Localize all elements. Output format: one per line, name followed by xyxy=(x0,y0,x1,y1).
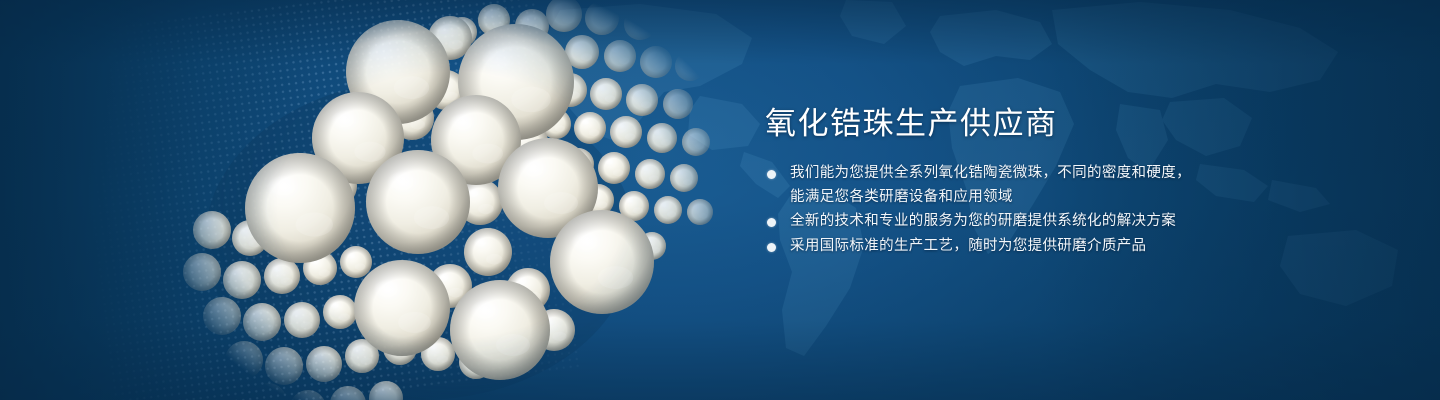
hero-banner: 氧化锆珠生产供应商 我们能为您提供全系列氧化锆陶瓷微珠，不同的密度和硬度， 能满… xyxy=(0,0,1440,400)
banner-headline: 氧化锆珠生产供应商 xyxy=(765,104,1233,144)
bullet-item-1: 我们能为您提供全系列氧化锆陶瓷微珠，不同的密度和硬度， 能满足您各类研磨设备和应… xyxy=(763,162,1233,209)
banner-bullet-list: 我们能为您提供全系列氧化锆陶瓷微珠，不同的密度和硬度， 能满足您各类研磨设备和应… xyxy=(763,162,1233,258)
bullet-dot-icon xyxy=(767,243,776,252)
zirconia-beads-photo xyxy=(150,0,730,400)
banner-copy: 氧化锆珠生产供应商 我们能为您提供全系列氧化锆陶瓷微珠，不同的密度和硬度， 能满… xyxy=(763,104,1233,259)
bullet-dot-icon xyxy=(767,170,776,179)
bullet-item-3: 采用国际标准的生产工艺，随时为您提供研磨介质产品 xyxy=(763,235,1233,259)
bullet-item-2: 全新的技术和专业的服务为您的研磨提供系统化的解决方案 xyxy=(763,210,1233,234)
bullet-item-2-line-1: 全新的技术和专业的服务为您的研磨提供系统化的解决方案 xyxy=(790,210,1233,234)
bullet-item-1-line-1: 我们能为您提供全系列氧化锆陶瓷微珠，不同的密度和硬度， xyxy=(790,162,1233,186)
bullet-dot-icon xyxy=(767,218,776,227)
bullet-item-1-line-2: 能满足您各类研磨设备和应用领域 xyxy=(790,186,1233,210)
bullet-item-3-line-1: 采用国际标准的生产工艺，随时为您提供研磨介质产品 xyxy=(790,235,1233,259)
